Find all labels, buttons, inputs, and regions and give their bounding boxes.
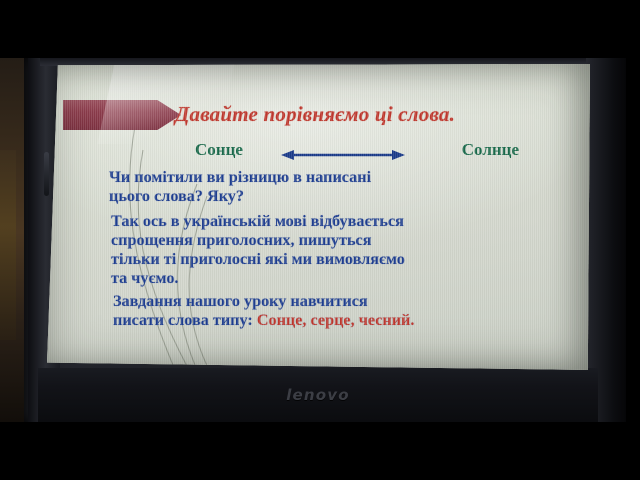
- photo-frame: lenovo Давайте порівняємо ці слова. Сонц…: [0, 0, 640, 480]
- vent-slot-icon: [44, 152, 49, 196]
- paragraph-task-line-2: писати слова типу: Сонце, серце, чесний.: [113, 311, 590, 330]
- russian-word: Солнце: [462, 140, 519, 160]
- paragraph-rule: Так ось в українській мові відбувається …: [111, 212, 589, 288]
- paragraph-question-line-2: цього слова? Яку?: [109, 187, 579, 206]
- letterbox-bar-bottom: [0, 422, 640, 480]
- wall-highlight-strip: [0, 150, 16, 340]
- paragraph-task-line-1: Завдання нашого уроку навчитися: [113, 292, 590, 311]
- paragraph-rule-line-4: та чуємо.: [111, 269, 589, 288]
- monitor-bezel-bottom: lenovo: [38, 368, 598, 422]
- word-comparison-row: Сонце Солнце: [195, 140, 535, 164]
- monitor-screen: Давайте порівняємо ці слова. Сонце Солнц…: [47, 64, 590, 370]
- paragraph-question: Чи помітили ви різницю в написані цього …: [109, 168, 579, 206]
- ukrainian-word: Сонце: [195, 140, 243, 160]
- right-arrow-banner-icon: [63, 100, 181, 130]
- paragraph-task-prefix: писати слова типу:: [113, 311, 257, 329]
- paragraph-rule-line-1: Так ось в українській мові відбувається: [111, 212, 589, 231]
- example-words: Сонце, серце, чесний.: [257, 311, 415, 329]
- double-headed-arrow-icon: [281, 149, 405, 161]
- paragraph-rule-line-2: спрощення приголосних, пишуться: [111, 231, 589, 250]
- slide-title: Давайте порівняємо ці слова.: [175, 102, 590, 127]
- paragraph-task: Завдання нашого уроку навчитися писати с…: [113, 292, 590, 330]
- paragraph-rule-line-3: тільки ті приголосні які ми вимовляємо: [111, 250, 589, 269]
- presentation-slide: Давайте порівняємо ці слова. Сонце Солнц…: [47, 64, 590, 370]
- lenovo-logo: lenovo: [38, 386, 598, 404]
- letterbox-bar-top: [0, 0, 640, 58]
- paragraph-question-line-1: Чи помітили ви різницю в написані: [109, 168, 579, 187]
